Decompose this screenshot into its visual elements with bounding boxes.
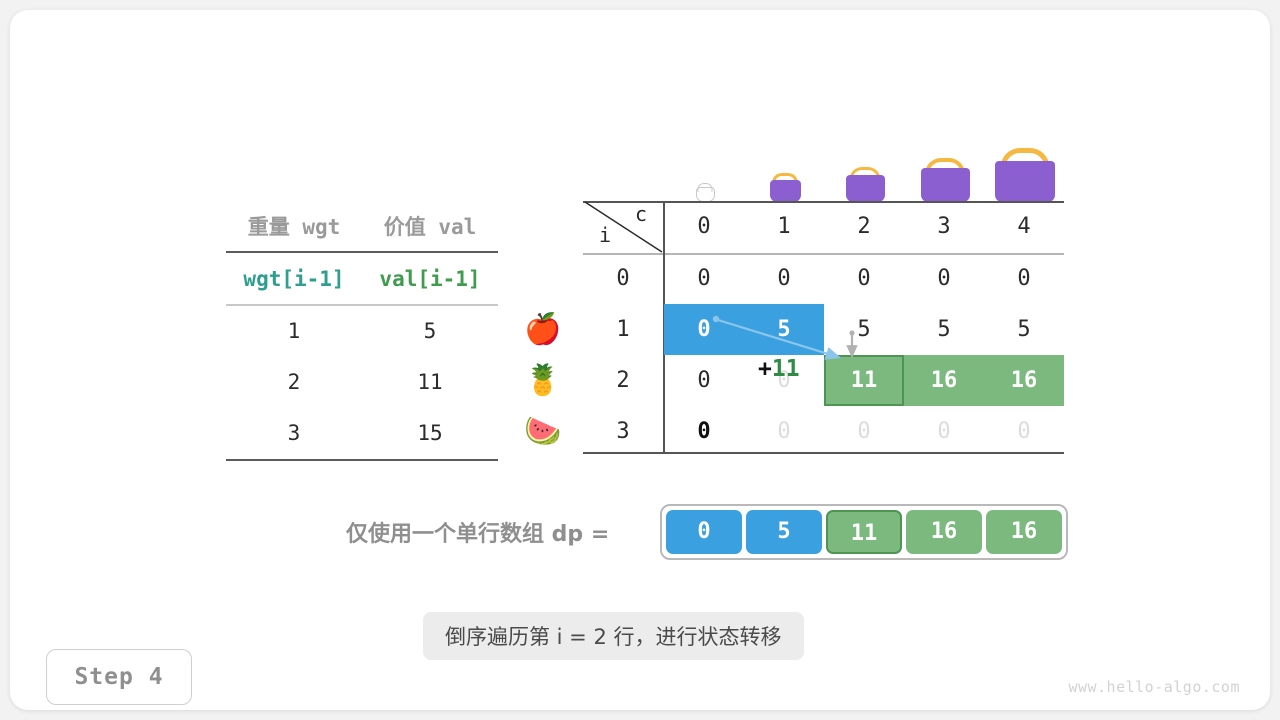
bag-body-icon [696, 187, 715, 202]
dp-row-header-0: 0 [583, 253, 663, 304]
corner-diagonal-icon [583, 201, 663, 253]
item-val-2: 11 [362, 370, 498, 394]
content-card: 重量 wgt 价值 val wgt[i-1] val[i-1] 1 5 2 11… [10, 10, 1270, 710]
bag-icon [696, 183, 715, 202]
bag-icon [921, 158, 970, 202]
dp-col-header-4: 4 [984, 201, 1064, 253]
bag-icon-capacity-3 [905, 158, 985, 206]
bag-icon [995, 148, 1055, 202]
item-wgt-3: 3 [226, 421, 362, 445]
dp-array: 0 5 11 16 16 [660, 504, 1068, 560]
dp-array-cell-2[interactable]: 11 [826, 510, 902, 554]
dp-axis-label-i: i [599, 223, 611, 247]
value-added-amount: 11 [772, 356, 800, 382]
item-table-subheader-row: wgt[i-1] val[i-1] [226, 253, 498, 304]
apple-icon: 🍎 [515, 304, 571, 355]
dp-array-cell-1[interactable]: 5 [746, 510, 822, 554]
item-table-row: 1 5 [226, 306, 498, 357]
dp-cell-3-1: 0 [744, 406, 824, 457]
dp-cell-0-4: 0 [984, 253, 1064, 304]
dp-array-cell-4[interactable]: 16 [986, 510, 1062, 554]
fruit-column: 🍎 🍍 🍉 [515, 304, 571, 457]
pineapple-icon: 🍍 [515, 355, 571, 406]
caption-text: 倒序遍历第 i = 2 行，进行状态转移 [423, 612, 804, 660]
dp-col-header-2: 2 [824, 201, 904, 253]
dp-corner-cell: c i [583, 201, 663, 253]
dp-cell-0-3: 0 [904, 253, 984, 304]
item-table-row: 3 15 [226, 408, 498, 459]
dp-cell-1-0: 0 [664, 304, 744, 355]
item-table-rule-bottom [226, 459, 498, 461]
dp-cell-2-4: 16 [984, 355, 1064, 406]
bag-body-icon [770, 180, 801, 202]
item-val-3: 15 [362, 421, 498, 445]
dp-cell-1-4: 5 [984, 304, 1064, 355]
item-table-row: 2 11 [226, 357, 498, 408]
dp-cell-2-0: 0 [664, 355, 744, 406]
dp-row-header-3: 3 [583, 406, 663, 457]
dp-row-header-1: 1 [583, 304, 663, 355]
dp-cell-3-2: 0 [824, 406, 904, 457]
bag-capacity-row [665, 128, 1065, 206]
dp-cell-1-1: 5 [744, 304, 824, 355]
bag-icon [770, 173, 801, 202]
dp-cell-0-2: 0 [824, 253, 904, 304]
dp-cell-3-4: 0 [984, 406, 1064, 457]
dp-array-label: 仅使用一个单行数组 dp = [346, 516, 609, 548]
screenshot-stage: 重量 wgt 价值 val wgt[i-1] val[i-1] 1 5 2 11… [0, 0, 1280, 720]
step-badge: Step 4 [46, 649, 192, 705]
dp-array-cell-0[interactable]: 0 [666, 510, 742, 554]
bag-icon [846, 167, 885, 202]
dp-cell-2-2: 11 [824, 355, 904, 406]
step-badge-label: Step 4 [74, 664, 163, 690]
dp-col-header-1: 1 [744, 201, 824, 253]
dp-axis-label-c: c [635, 202, 647, 226]
bag-body-icon [921, 168, 970, 202]
value-added-prefix: + [758, 356, 772, 382]
item-table-header-wgt: 重量 wgt [226, 211, 362, 241]
watermelon-icon: 🍉 [515, 406, 571, 457]
item-table-header-val: 价值 val [362, 211, 498, 241]
dp-cell-3-0: 0 [664, 406, 744, 457]
item-val-1: 5 [362, 319, 498, 343]
dp-cell-1-2: 5 [824, 304, 904, 355]
item-table-header-row: 重量 wgt 价值 val [226, 200, 498, 251]
value-added-annotation: +11 [758, 356, 800, 382]
item-wgt-1: 1 [226, 319, 362, 343]
watermark: www.hello-algo.com [1068, 678, 1240, 696]
dp-array-cell-3[interactable]: 16 [906, 510, 982, 554]
item-table-subheader-val: val[i-1] [362, 267, 498, 291]
dp-col-header-3: 3 [904, 201, 984, 253]
bag-body-icon [846, 175, 885, 202]
dp-col-header-0: 0 [664, 201, 744, 253]
dp-cell-3-3: 0 [904, 406, 984, 457]
dp-table: c i 0 1 2 3 4 0 1 2 3 0 0 0 0 0 0 [583, 201, 1064, 454]
bag-icon-capacity-4 [985, 148, 1065, 206]
item-wgt-2: 2 [226, 370, 362, 394]
dp-cell-1-3: 5 [904, 304, 984, 355]
dp-cell-2-3: 16 [904, 355, 984, 406]
dp-cell-0-0: 0 [664, 253, 744, 304]
dp-cell-0-1: 0 [744, 253, 824, 304]
item-table: 重量 wgt 价值 val wgt[i-1] val[i-1] 1 5 2 11… [226, 200, 498, 461]
item-table-subheader-wgt: wgt[i-1] [226, 267, 362, 291]
dp-row-header-2: 2 [583, 355, 663, 406]
bag-body-icon [995, 161, 1055, 202]
